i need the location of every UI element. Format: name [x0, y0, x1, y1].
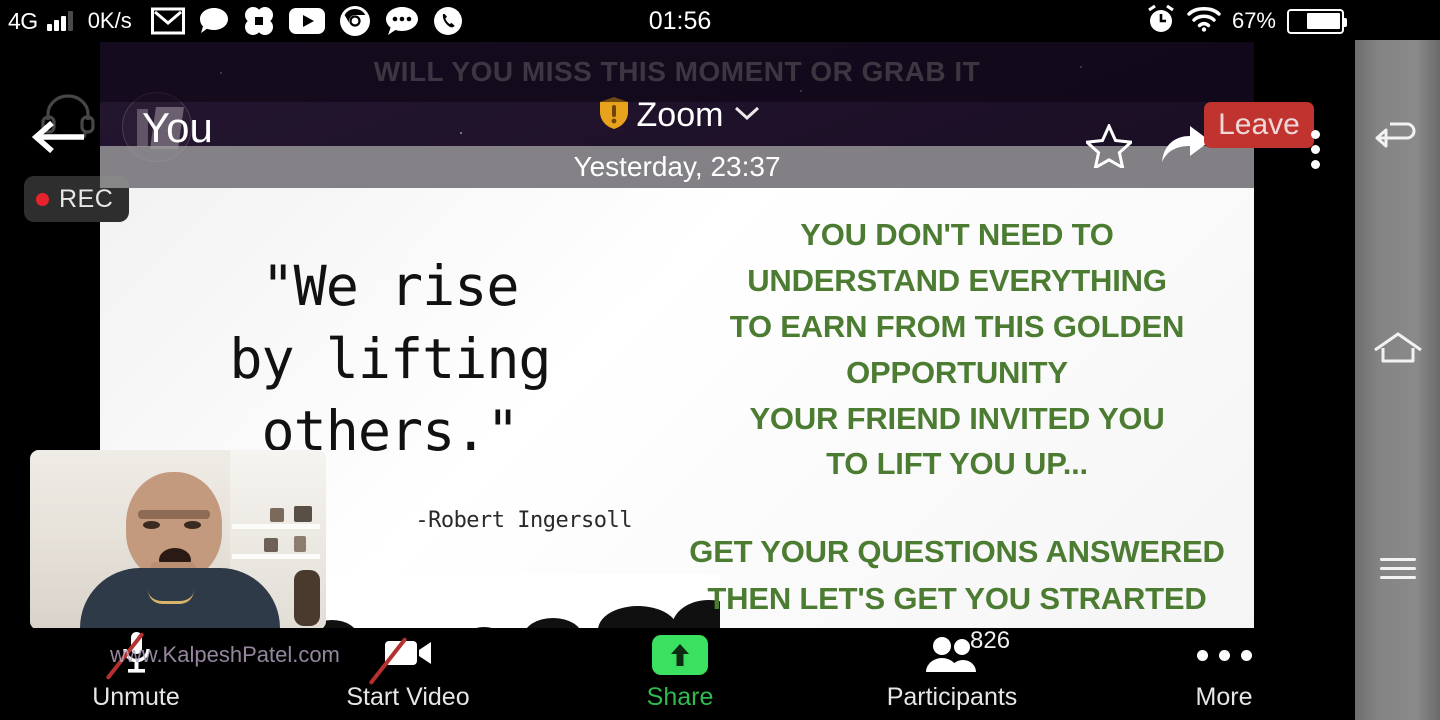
more-horizontal-icon: [1197, 631, 1252, 679]
meeting-timestamp-bar: Yesterday, 23:37: [100, 146, 1254, 188]
message-icon: [199, 7, 229, 35]
toolbar-label-unmute: Unmute: [92, 683, 180, 712]
data-speed-label: 0K/s: [88, 8, 132, 34]
toolbar-label-more: More: [1196, 683, 1253, 712]
alarm-icon: [1146, 4, 1176, 39]
green-line-2: UNDERSTAND EVERYTHING: [660, 258, 1254, 304]
green-line-5: YOUR FRIEND INVITED YOU: [660, 396, 1254, 442]
android-menu-icon[interactable]: [1355, 552, 1440, 585]
meeting-bottom-toolbar: Unmute Start Video: [0, 628, 1360, 720]
chrome-icon: [339, 5, 371, 37]
green-line-1: YOU DON'T NEED TO: [660, 212, 1254, 258]
chat-dots-icon: [385, 6, 419, 36]
star-icon[interactable]: [1086, 124, 1132, 173]
toolbar-button-share[interactable]: Share: [544, 628, 816, 720]
more-vertical-icon[interactable]: [1311, 124, 1320, 175]
android-back-icon[interactable]: [1355, 114, 1440, 154]
shield-warning-icon: [599, 96, 629, 135]
green-cta-line-1: GET YOUR QUESTIONS ANSWERED: [660, 528, 1254, 575]
quote-author: -Robert Ingersoll: [272, 508, 632, 533]
meeting-title: Zoom: [637, 96, 724, 135]
battery-icon: [1287, 9, 1344, 34]
quote-text: "We rise by lifting others.": [140, 250, 640, 468]
signal-strength-icon: [47, 11, 73, 31]
meeting-content-area: WILL YOU MISS THIS MOMENT OR GRAB IT HEA…: [0, 42, 1360, 720]
self-video-thumbnail[interactable]: [30, 450, 326, 630]
phone-icon: [433, 6, 463, 36]
toolbar-label-start-video: Start Video: [346, 683, 469, 712]
android-navigation-bar: [1355, 40, 1440, 720]
microphone-muted-icon: [121, 631, 151, 679]
green-line-4: OPPORTUNITY: [660, 350, 1254, 396]
participants-icon: 826: [924, 631, 980, 679]
meeting-title-group[interactable]: Zoom: [0, 96, 1360, 135]
toolbar-label-participants: Participants: [887, 683, 1018, 712]
android-status-bar: 4G 0K/s: [0, 0, 1360, 42]
battery-percent-label: 67%: [1232, 8, 1276, 34]
video-muted-icon: [384, 631, 432, 679]
gmail-icon: [151, 7, 185, 35]
wifi-icon: [1187, 6, 1221, 37]
quote-line-2: by lifting: [140, 323, 640, 396]
meeting-timestamp: Yesterday, 23:37: [573, 151, 780, 183]
quote-line-1: "We rise: [140, 250, 640, 323]
deck-header-text: WILL YOU MISS THIS MOMENT OR GRAB IT: [100, 56, 1254, 88]
chevron-down-icon[interactable]: [733, 104, 761, 127]
slide-right-column: YOU DON'T NEED TO UNDERSTAND EVERYTHING …: [660, 188, 1254, 674]
leave-button[interactable]: Leave: [1204, 102, 1314, 148]
android-zoom-meeting-screen: WILL YOU MISS THIS MOMENT OR GRAB IT HEA…: [0, 0, 1440, 720]
green-line-6: TO LIFT YOU UP...: [660, 441, 1254, 487]
android-home-icon[interactable]: [1355, 330, 1440, 366]
toolbar-button-unmute[interactable]: Unmute: [0, 628, 272, 720]
toolbar-button-more[interactable]: More: [1088, 628, 1360, 720]
toolbar-button-start-video[interactable]: Start Video: [272, 628, 544, 720]
network-type-label: 4G: [8, 8, 38, 35]
participants-count: 826: [970, 627, 1010, 655]
share-screen-icon: [652, 631, 708, 679]
green-line-3: TO EARN FROM THIS GOLDEN: [660, 304, 1254, 350]
green-cta-line-2: THEN LET'S GET YOU STRARTED: [660, 575, 1254, 622]
youtube-icon: [289, 8, 325, 34]
green-headline-block: YOU DON'T NEED TO UNDERSTAND EVERYTHING …: [660, 212, 1254, 487]
quadpay-icon: [243, 5, 275, 37]
toolbar-label-share: Share: [647, 683, 714, 712]
green-cta-block: GET YOUR QUESTIONS ANSWERED THEN LET'S G…: [660, 528, 1254, 623]
recording-dot-icon: [36, 193, 49, 206]
leave-label: Leave: [1218, 108, 1300, 142]
recording-label: REC: [59, 185, 113, 214]
toolbar-button-participants[interactable]: 826 Participants: [816, 628, 1088, 720]
